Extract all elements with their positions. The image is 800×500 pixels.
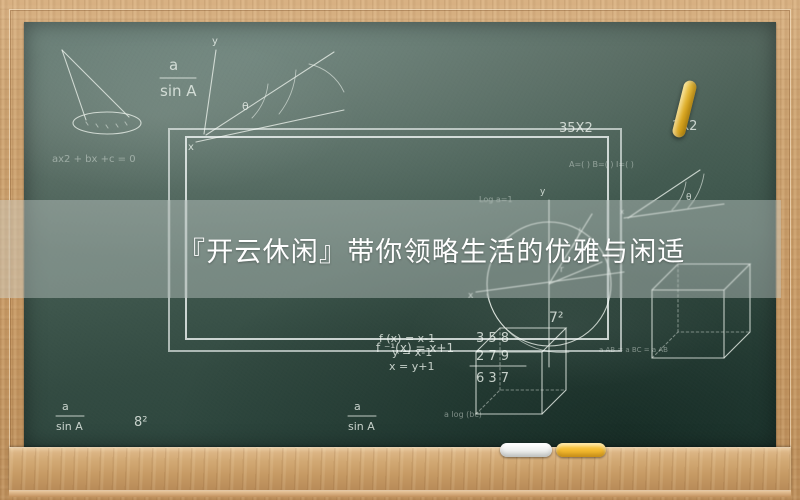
chalk-stick-white-icon (500, 443, 552, 457)
chalk-ledge (9, 447, 791, 491)
chalk-stick-yellow-icon (556, 443, 606, 457)
page-title: 『开云休闲』带你领略生活的优雅与闲适 (0, 200, 781, 298)
banner-image: a sin A ax2 + bx +c = 0 y x θ f (x) = (0, 0, 800, 500)
chalk-ledge-lip (9, 490, 791, 497)
